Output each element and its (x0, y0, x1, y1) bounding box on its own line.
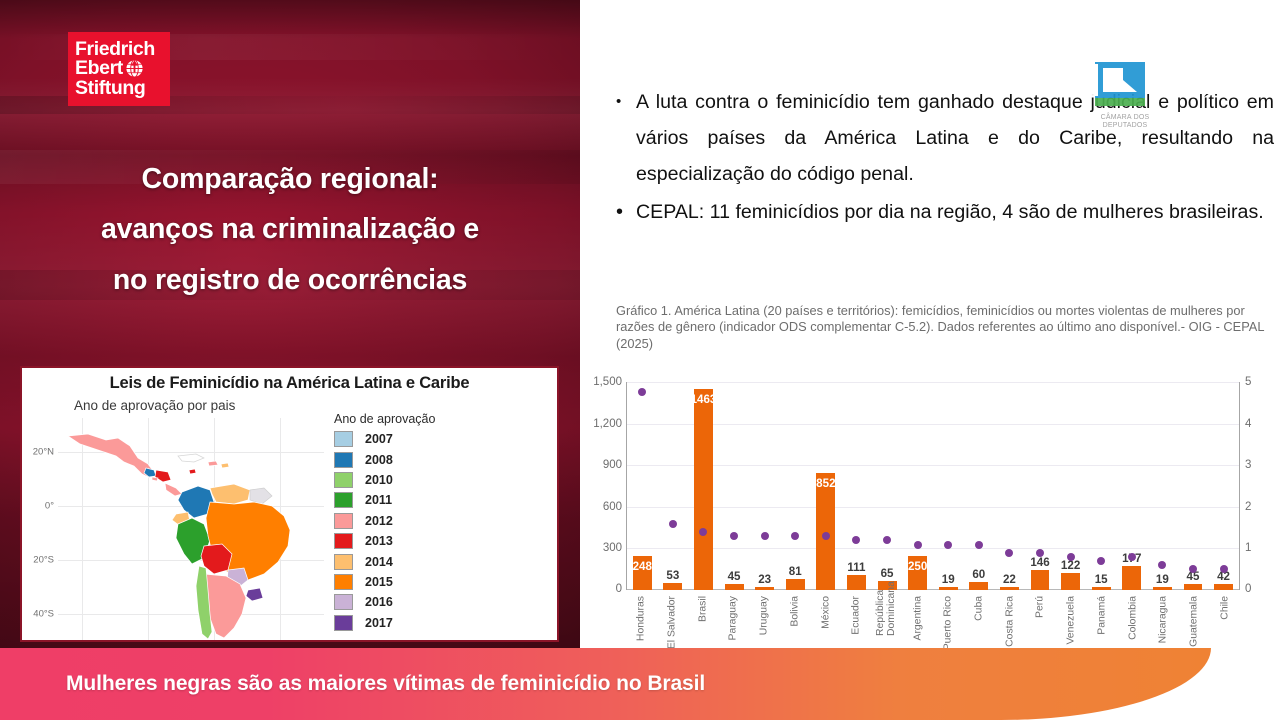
x-axis-label: Cuba (964, 596, 995, 640)
y2-axis-tick: 5 (1245, 376, 1251, 388)
bar-column: 45 (1178, 382, 1209, 590)
rate-dot (914, 541, 922, 549)
y2-axis-tick: 0 (1245, 583, 1251, 595)
left-red-panel: Friedrich Ebert Stiftung (0, 0, 580, 648)
map-legend-item: 2008 (334, 449, 494, 469)
bar-column: 122 (1055, 382, 1086, 590)
bar-value-label: 852 (816, 477, 835, 490)
map-legend-item: 2015 (334, 572, 494, 592)
x-axis-label: Colombia (1117, 596, 1148, 640)
bar: 250 (908, 556, 927, 590)
bar-value-label: 19 (942, 573, 955, 586)
x-axis-label-text: Guatemala (1189, 596, 1200, 647)
bar-value-label: 81 (789, 565, 802, 578)
y-axis-tick: 0 (616, 583, 622, 595)
legend-swatch (334, 533, 353, 549)
legend-label: 2014 (365, 555, 393, 569)
x-axis-label-text: Honduras (636, 596, 647, 641)
legend-swatch (334, 574, 353, 590)
bar-column: 177 (1117, 382, 1148, 590)
legend-label: 2017 (365, 616, 393, 630)
x-axis-label-text: República Dominicana (876, 596, 898, 636)
x-axis-label-text: Colombia (1127, 596, 1138, 640)
x-axis-label-text: Cuba (974, 596, 985, 621)
bar-column: 111 (841, 382, 872, 590)
x-axis-label-text: Argentina (912, 596, 923, 640)
legend-swatch (334, 431, 353, 447)
bar-column: 81 (780, 382, 811, 590)
bar: 15 (1092, 587, 1111, 590)
x-axis-label-text: Uruguay (759, 596, 770, 635)
legend-label: 2010 (365, 473, 393, 487)
bar-value-label: 122 (1061, 559, 1080, 572)
page-title: Comparação regional: avanços na criminal… (20, 160, 560, 311)
bullet-text: CEPAL: 11 feminicídios por dia na região… (636, 194, 1274, 230)
bar-column: 60 (964, 382, 995, 590)
legend-swatch (334, 513, 353, 529)
rate-dot (699, 528, 707, 536)
bar-value-label: 23 (758, 573, 771, 586)
x-axis-label: Bolivia (780, 596, 811, 640)
x-axis-label: Panamá (1087, 596, 1118, 640)
map-legend-item: 2013 (334, 531, 494, 551)
fes-logo: Friedrich Ebert Stiftung (68, 32, 170, 106)
x-axis-label-text: Costa Rica (1004, 596, 1015, 647)
rate-dot (1220, 565, 1228, 573)
rate-dot (1097, 557, 1105, 565)
page-title-line-3: no registro de ocorrências (20, 261, 560, 300)
x-axis-label: Venezuela (1056, 596, 1087, 640)
bar: 111 (847, 575, 866, 590)
bar-column: 65 (872, 382, 903, 590)
x-axis-label: Paraguay (718, 596, 749, 640)
bar-value-label: 22 (1003, 573, 1016, 586)
page-title-line-2: avanços na criminalização e (20, 210, 560, 249)
bar: 19 (1153, 587, 1172, 590)
bar-column: 19 (933, 382, 964, 590)
bar: 22 (1000, 587, 1019, 590)
bar-column: 53 (658, 382, 689, 590)
bar-column: 250 (902, 382, 933, 590)
chart-plot-area: 1,500 1,200 900 600 300 0 5 4 3 2 1 0 24… (626, 382, 1240, 590)
x-axis-label: Argentina (902, 596, 933, 640)
x-axis-label: Honduras (626, 596, 657, 640)
x-axis-label: Ecuador (841, 596, 872, 640)
x-axis-label: Chile (1209, 596, 1240, 640)
bar: 1463 (694, 389, 713, 591)
bar: 23 (755, 587, 774, 590)
y2-axis-tick: 1 (1245, 542, 1251, 554)
legend-label: 2007 (365, 432, 393, 446)
x-axis-label-text: Puerto Rico (943, 596, 954, 650)
bottom-banner-text: Mulheres negras são as maiores vítimas d… (66, 648, 705, 720)
y2-axis-tick: 4 (1245, 418, 1251, 430)
bar: 81 (786, 579, 805, 590)
map-card: Leis de Feminicídio na América Latina e … (20, 366, 559, 642)
bar-value-label: 146 (1030, 556, 1049, 569)
bar-value-label: 15 (1095, 573, 1108, 586)
page-title-line-1: Comparação regional: (20, 160, 560, 199)
map-legend-item: 2017 (334, 613, 494, 633)
map-legend-item: 2012 (334, 511, 494, 531)
rate-dot (638, 388, 646, 396)
bar-value-label: 1463 (691, 393, 717, 406)
bar-value-label: 60 (972, 568, 985, 581)
rate-dot (1189, 565, 1197, 573)
bar-chart: 1,500 1,200 900 600 300 0 5 4 3 2 1 0 24… (586, 374, 1276, 642)
x-axis-label-text: Paraguay (728, 596, 739, 640)
map-subtitle: Ano de aprovação por pais (74, 398, 235, 413)
y-axis-tick: 1,200 (593, 418, 622, 430)
x-axis-label: República Dominicana (872, 596, 903, 640)
bar-value-label: 111 (847, 561, 865, 574)
rate-dot (1158, 561, 1166, 569)
x-axis-label: Nicaragua (1148, 596, 1179, 640)
bar-column: 22 (994, 382, 1025, 590)
globe-arrow-icon (125, 59, 144, 78)
legend-label: 2012 (365, 514, 393, 528)
rate-dot (730, 532, 738, 540)
y2-axis-tick: 2 (1245, 501, 1251, 513)
bar: 146 (1031, 570, 1050, 590)
bar-column: 852 (811, 382, 842, 590)
x-axis-label-text: Bolivia (789, 596, 800, 627)
rate-dot (1036, 549, 1044, 557)
map-y-tick: 0° (45, 501, 54, 512)
bullet-item: • A luta contra o feminicídio tem ganhad… (616, 84, 1274, 192)
y-axis-tick: 900 (603, 459, 622, 471)
bar-value-label: 19 (1156, 573, 1169, 586)
y-axis-tick: 300 (603, 542, 622, 554)
x-axis-label: Uruguay (749, 596, 780, 640)
map-plot-area: 20°N 0° 20°S 40°S (58, 418, 324, 640)
x-axis-label: Costa Rica (994, 596, 1025, 640)
rate-dot (1067, 553, 1075, 561)
x-axis-label: El Salvador (657, 596, 688, 640)
x-axis-label: México (810, 596, 841, 640)
x-axis-label-text: Brasil (697, 596, 708, 622)
legend-swatch (334, 594, 353, 610)
legend-label: 2013 (365, 534, 393, 548)
legend-label: 2016 (365, 595, 393, 609)
fes-logo-line3: Stiftung (75, 79, 155, 98)
legend-swatch (334, 472, 353, 488)
legend-swatch (334, 615, 353, 631)
bar-column: 42 (1208, 382, 1239, 590)
bullet-list: • A luta contra o feminicídio tem ganhad… (616, 84, 1274, 232)
bullet-marker: • (616, 84, 636, 120)
x-axis-label-text: Ecuador (851, 596, 862, 635)
bar-value-label: 65 (881, 567, 894, 580)
rate-dot (975, 541, 983, 549)
legend-swatch (334, 492, 353, 508)
x-axis-label: Brasil (687, 596, 718, 640)
x-axis-label-text: Nicaragua (1158, 596, 1169, 643)
x-axis-labels: HondurasEl SalvadorBrasilParaguayUruguay… (626, 596, 1240, 640)
x-axis-label-text: Panamá (1096, 596, 1107, 635)
rate-dot (761, 532, 769, 540)
slide-root: Friedrich Ebert Stiftung (0, 0, 1280, 720)
x-axis-label: Guatemala (1179, 596, 1210, 640)
map-y-tick: 20°N (33, 447, 54, 458)
map-title: Leis de Feminicídio na América Latina e … (22, 374, 557, 393)
map-legend-item: 2010 (334, 470, 494, 490)
x-axis-label: Perú (1025, 596, 1056, 640)
x-axis-label-text: Perú (1035, 596, 1046, 618)
x-axis-label-text: Venezuela (1066, 596, 1077, 645)
bar: 53 (663, 583, 682, 590)
bar-column: 15 (1086, 382, 1117, 590)
x-axis-label-text: México (820, 596, 831, 629)
rate-dot (944, 541, 952, 549)
bar-value-label: 53 (666, 569, 679, 582)
y-axis-tick: 1,500 (593, 376, 622, 388)
map-y-tick: 20°S (33, 555, 54, 566)
latin-america-choropleth (58, 418, 324, 640)
x-axis-label-text: Chile (1219, 596, 1230, 620)
bar-value-label: 250 (908, 560, 927, 573)
bar: 177 (1122, 566, 1141, 590)
rate-dot (1128, 553, 1136, 561)
x-axis-label: Puerto Rico (933, 596, 964, 640)
map-legend-item: 2007 (334, 429, 494, 449)
bar: 60 (969, 582, 988, 590)
bar-column: 19 (1147, 382, 1178, 590)
rate-dot (669, 520, 677, 528)
bar-column: 23 (749, 382, 780, 590)
map-y-tick: 40°S (33, 609, 54, 620)
bar: 45 (725, 584, 744, 590)
legend-label: 2015 (365, 575, 393, 589)
legend-swatch (334, 554, 353, 570)
bar: 248 (633, 556, 652, 590)
rate-dot (852, 536, 860, 544)
map-legend-item: 2011 (334, 490, 494, 510)
legend-swatch (334, 452, 353, 468)
legend-label: 2008 (365, 453, 393, 467)
bar-series-container: 2485314634523818521116525019602214612215… (627, 382, 1239, 590)
bar: 45 (1184, 584, 1203, 590)
rate-dot (1005, 549, 1013, 557)
y-axis-tick: 600 (603, 501, 622, 513)
bar: 122 (1061, 573, 1080, 590)
bar-column: 45 (719, 382, 750, 590)
bar-column: 248 (627, 382, 658, 590)
bullet-marker: • (616, 194, 636, 230)
bar-value-label: 45 (728, 570, 741, 583)
bar: 42 (1214, 584, 1233, 590)
chart-caption: Gráfico 1. América Latina (20 países e t… (616, 303, 1266, 352)
bar-column: 1463 (688, 382, 719, 590)
bullet-item: • CEPAL: 11 feminicídios por dia na regi… (616, 194, 1274, 230)
map-legend-item: 2014 (334, 551, 494, 571)
map-legend-title: Ano de aprovação (334, 412, 494, 426)
legend-label: 2011 (365, 493, 392, 507)
bar: 19 (939, 587, 958, 590)
bar-column: 146 (1025, 382, 1056, 590)
bar-value-label: 248 (633, 560, 652, 573)
fes-logo-line2: Ebert (75, 59, 123, 78)
rate-dot (822, 532, 830, 540)
map-legend-item: 2016 (334, 592, 494, 612)
x-axis-label-text: El Salvador (667, 596, 678, 649)
bullet-text: A luta contra o feminicídio tem ganhado … (636, 84, 1274, 192)
map-legend: Ano de aprovação 2007 2008 2010 2011 201… (334, 412, 494, 633)
rate-dot (883, 536, 891, 544)
rate-dot (791, 532, 799, 540)
y2-axis-tick: 3 (1245, 459, 1251, 471)
